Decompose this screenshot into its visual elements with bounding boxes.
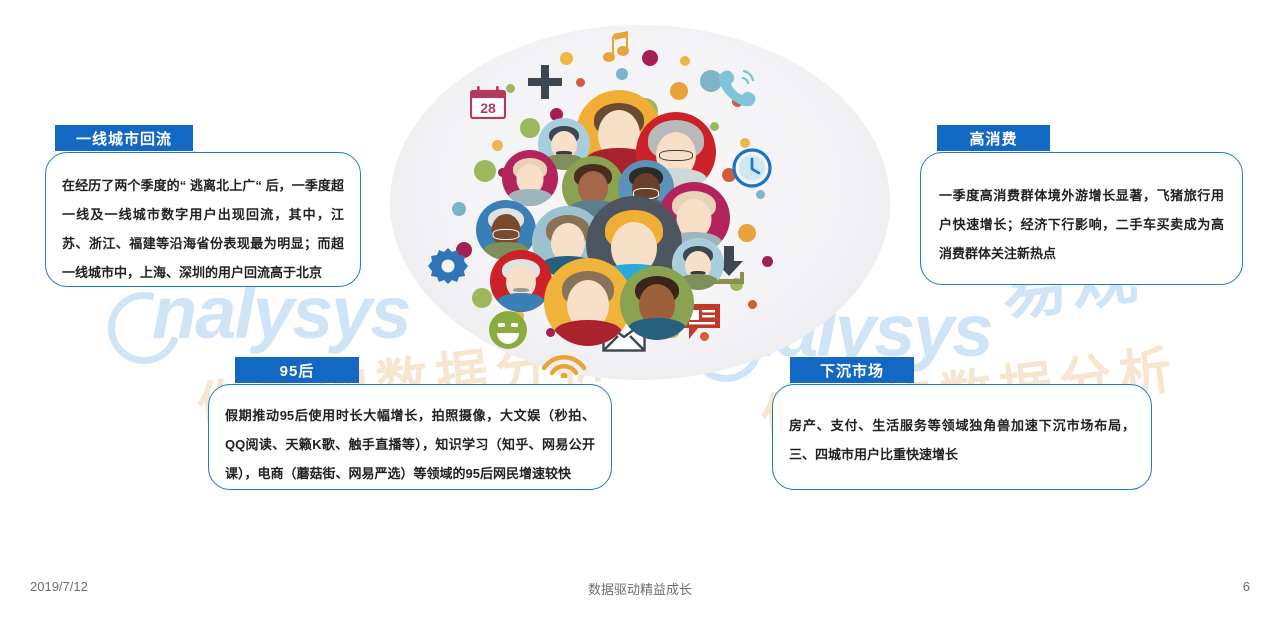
music-note-icon (602, 30, 632, 66)
deco-dot (452, 202, 466, 216)
avatar (490, 250, 552, 312)
deco-dot (576, 78, 585, 87)
deco-dot (670, 82, 688, 100)
card-badge-sinking-market[interactable]: 下沉市场 (790, 357, 914, 383)
deco-dot (710, 122, 719, 131)
deco-dot (756, 190, 765, 199)
phone-call-icon (717, 68, 757, 106)
smiley-icon (488, 310, 528, 350)
watermark-logo-ring (95, 279, 192, 376)
card-panel-sinking-market: 房产、支付、生活服务等领域独角兽加速下沉市场布局，三、四城市用户比重快速增长 (772, 384, 1152, 490)
deco-dot (474, 160, 496, 182)
deco-dot (520, 118, 540, 138)
card-panel-first-tier-cities-return: 在经历了两个季度的“ 逃离北上广“ 后，一季度超一线及一线城市数字用户出现回流，… (45, 152, 361, 287)
card-badge-high-consumption[interactable]: 高消费 (937, 125, 1050, 151)
card-body-sinking-market: 房产、支付、生活服务等领域独角兽加速下沉市场布局，三、四城市用户比重快速增长 (789, 411, 1135, 469)
card-body-first-tier-cities-return: 在经历了两个季度的“ 逃离北上广“ 后，一季度超一线及一线城市数字用户出现回流，… (62, 171, 344, 287)
deco-dot (492, 140, 503, 151)
avatar (544, 258, 632, 346)
deco-dot (740, 138, 750, 148)
deco-dot (748, 300, 757, 309)
calendar-day-number: 28 (480, 100, 496, 116)
footer-tagline: 数据驱动精益成长 (0, 579, 1280, 598)
avatar (502, 150, 558, 206)
clock-icon (732, 148, 772, 188)
deco-dot (762, 256, 773, 267)
card-badge-post-95[interactable]: 95后 (235, 357, 359, 383)
footer-page-number: 6 (1243, 579, 1250, 594)
plus-icon (528, 65, 562, 99)
deco-dot (680, 56, 690, 66)
deco-dot (616, 68, 628, 80)
deco-dot (560, 52, 573, 65)
slide-canvas: nalysys 你要的数据分析 nalysys 易观 你要的数据分析 (0, 0, 1280, 617)
gear-icon (428, 246, 468, 286)
card-body-high-consumption: 一季度高消费群体境外游增长显著，飞猪旅行用户快速增长；经济下行影响，二手车买卖成… (939, 181, 1224, 268)
people-crowd-illustration: 28 (380, 10, 900, 390)
wifi-icon (540, 348, 588, 378)
card-panel-high-consumption: 一季度高消费群体境外游增长显著，飞猪旅行用户快速增长；经济下行影响，二手车买卖成… (920, 152, 1243, 285)
card-panel-post-95: 假期推动95后使用时长大幅增长，拍照摄像，大文娱（秒拍、QQ阅读、天籁K歌、触手… (208, 384, 612, 490)
slide-footer: 2019/7/12 数据驱动精益成长 6 (0, 561, 1280, 617)
deco-dot (738, 224, 756, 242)
avatar (620, 266, 694, 340)
card-body-post-95: 假期推动95后使用时长大幅增长，拍照摄像，大文娱（秒拍、QQ阅读、天籁K歌、触手… (225, 401, 595, 488)
deco-dot (506, 84, 515, 93)
card-badge-first-tier-cities-return[interactable]: 一线城市回流 (55, 125, 193, 151)
deco-dot (642, 50, 658, 66)
deco-dot (472, 288, 492, 308)
calendar-icon: 28 (470, 86, 506, 119)
